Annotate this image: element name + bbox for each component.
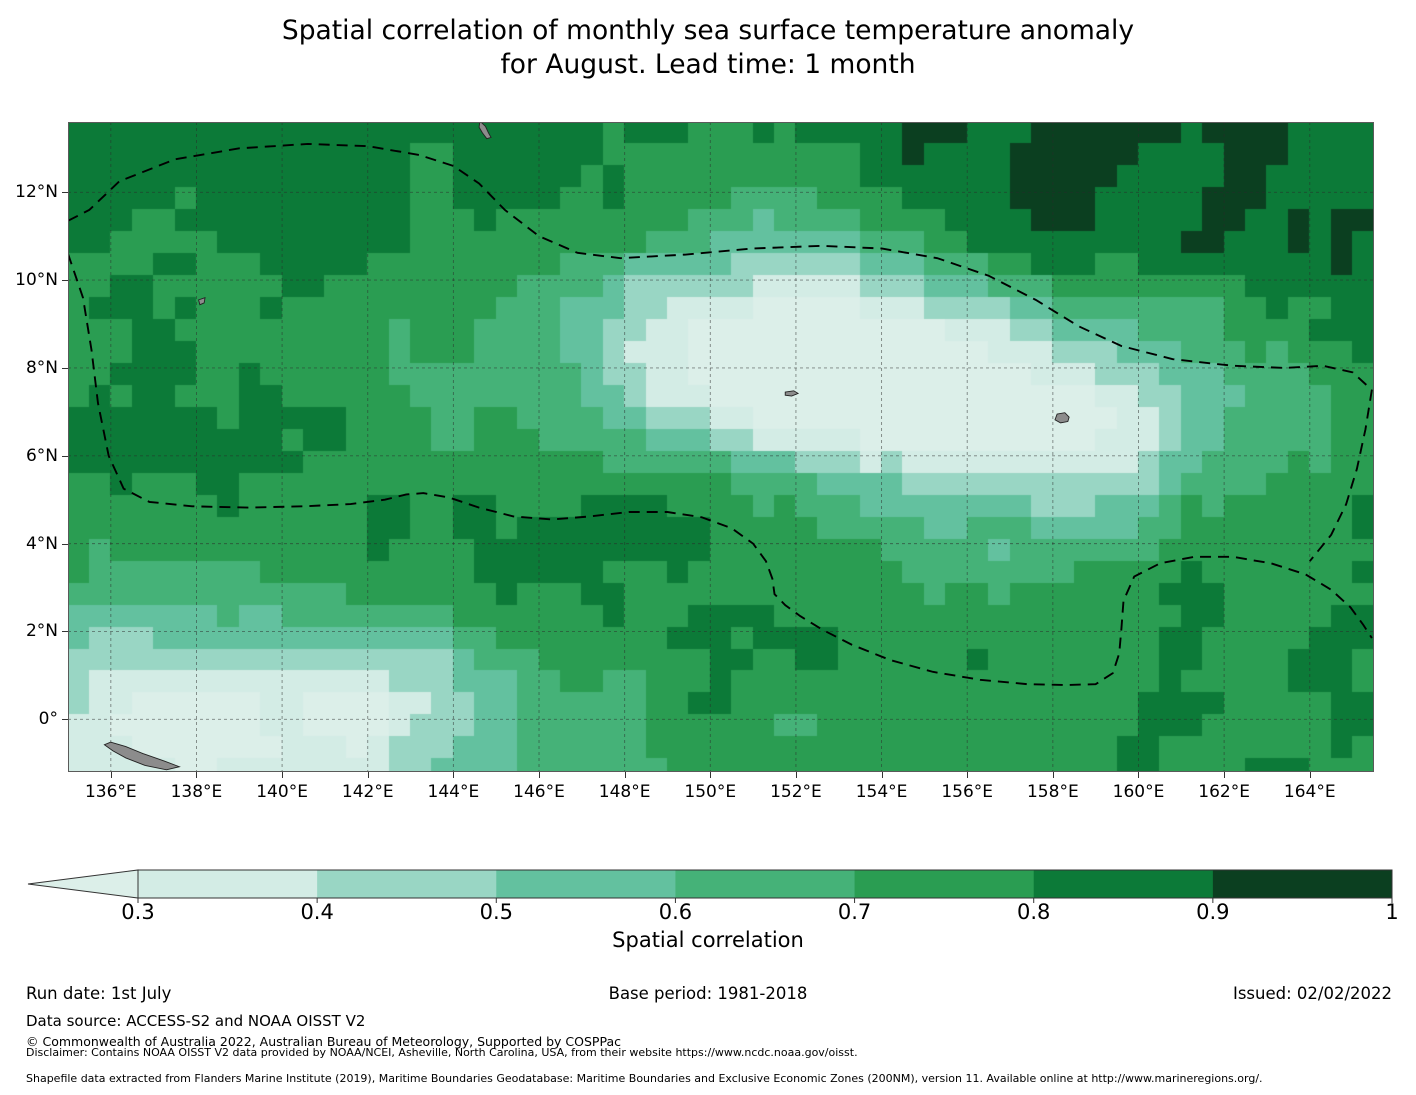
x-axis-tick [453, 772, 454, 778]
x-axis-tick [710, 772, 711, 778]
land-guam [479, 122, 491, 139]
page-title: Spatial correlation of monthly sea surfa… [0, 14, 1416, 82]
y-axis-tick [62, 192, 68, 193]
eez-segment-1 [68, 254, 1372, 685]
y-axis-label-0°: 0° [39, 709, 58, 729]
footer-disclaimer: Disclaimer: Contains NOAA OISST V2 data … [26, 1046, 858, 1059]
land-biak-yapen [104, 742, 179, 770]
grid-lines [68, 122, 1374, 772]
x-axis-label-136°E: 136°E [85, 782, 137, 802]
y-axis-tick [62, 456, 68, 457]
x-axis-tick [1224, 772, 1225, 778]
x-axis-label-154°E: 154°E [856, 782, 908, 802]
colorbar-band-0.4-0.5 [317, 870, 497, 898]
colorbar-band-0.6-0.7 [675, 870, 855, 898]
colorbar-band-0.3-0.4 [138, 870, 318, 898]
colorbar-tick-0.4: 0.4 [300, 900, 333, 924]
colorbar-band-0.5-0.6 [496, 870, 676, 898]
colorbar-title: Spatial correlation [0, 928, 1416, 952]
map-plot-area [68, 122, 1374, 772]
colorbar-band-0.7-0.8 [855, 870, 1035, 898]
y-axis-label-4°N: 4°N [26, 534, 58, 554]
x-axis-tick [111, 772, 112, 778]
x-axis-tick [196, 772, 197, 778]
colorbar-tick-0.5: 0.5 [480, 900, 513, 924]
x-axis-tick [967, 772, 968, 778]
land-yap [199, 298, 205, 305]
land-polygons [104, 122, 1069, 770]
y-axis-tick [62, 544, 68, 545]
colorbar-tick-0.7: 0.7 [838, 900, 871, 924]
y-axis-label-8°N: 8°N [26, 358, 58, 378]
x-axis-label-158°E: 158°E [1027, 782, 1079, 802]
y-axis-label-10°N: 10°N [15, 270, 58, 290]
colorbar-tick-0.8: 0.8 [1017, 900, 1050, 924]
y-axis-label-2°N: 2°N [26, 621, 58, 641]
x-axis-label-150°E: 150°E [684, 782, 736, 802]
x-axis-label-140°E: 140°E [256, 782, 308, 802]
x-axis-tick [1053, 772, 1054, 778]
eez-boundary-dashed [68, 144, 1372, 685]
x-axis-tick [882, 772, 883, 778]
y-axis-tick [62, 368, 68, 369]
colorbar-tick-0.3: 0.3 [121, 900, 154, 924]
land-pohnpei [1055, 413, 1069, 423]
footer-shapefile: Shapefile data extracted from Flanders M… [26, 1072, 1263, 1085]
x-axis-label-144°E: 144°E [428, 782, 480, 802]
eez-segment-2 [1310, 390, 1372, 561]
x-axis-label-156°E: 156°E [941, 782, 993, 802]
footer-base-period: Base period: 1981-2018 [0, 984, 1416, 1003]
x-axis-tick [796, 772, 797, 778]
x-axis-tick [1310, 772, 1311, 778]
x-axis-label-148°E: 148°E [599, 782, 651, 802]
colorbar-extend-min-arrow [28, 870, 138, 898]
x-axis-tick [625, 772, 626, 778]
y-axis-tick [62, 631, 68, 632]
colorbar-band-0.8-0.9 [1034, 870, 1214, 898]
colorbar-tick-0.9: 0.9 [1196, 900, 1229, 924]
x-axis-label-152°E: 152°E [770, 782, 822, 802]
y-axis-tick [62, 719, 68, 720]
x-axis-label-146°E: 146°E [513, 782, 565, 802]
colorbar-tick-1: 1 [1385, 900, 1398, 924]
x-axis-label-138°E: 138°E [171, 782, 223, 802]
y-axis-label-12°N: 12°N [15, 182, 58, 202]
x-axis-label-160°E: 160°E [1113, 782, 1165, 802]
colorbar-tick-0.6: 0.6 [659, 900, 692, 924]
map-overlay [68, 122, 1374, 772]
footer-issued-date: Issued: 02/02/2022 [1233, 984, 1392, 1003]
x-axis-tick [1138, 772, 1139, 778]
x-axis-label-164°E: 164°E [1284, 782, 1336, 802]
x-axis-label-162°E: 162°E [1198, 782, 1250, 802]
y-axis-label-6°N: 6°N [26, 446, 58, 466]
y-axis-tick [62, 280, 68, 281]
x-axis-tick [368, 772, 369, 778]
x-axis-label-142°E: 142°E [342, 782, 394, 802]
footer-data-source: Data source: ACCESS-S2 and NOAA OISST V2 [26, 1012, 365, 1030]
eez-segment-0 [68, 144, 1372, 390]
x-axis-tick [539, 772, 540, 778]
land-chuuk [785, 391, 798, 396]
x-axis-tick [282, 772, 283, 778]
colorbar-band-0.9-1 [1213, 870, 1393, 898]
